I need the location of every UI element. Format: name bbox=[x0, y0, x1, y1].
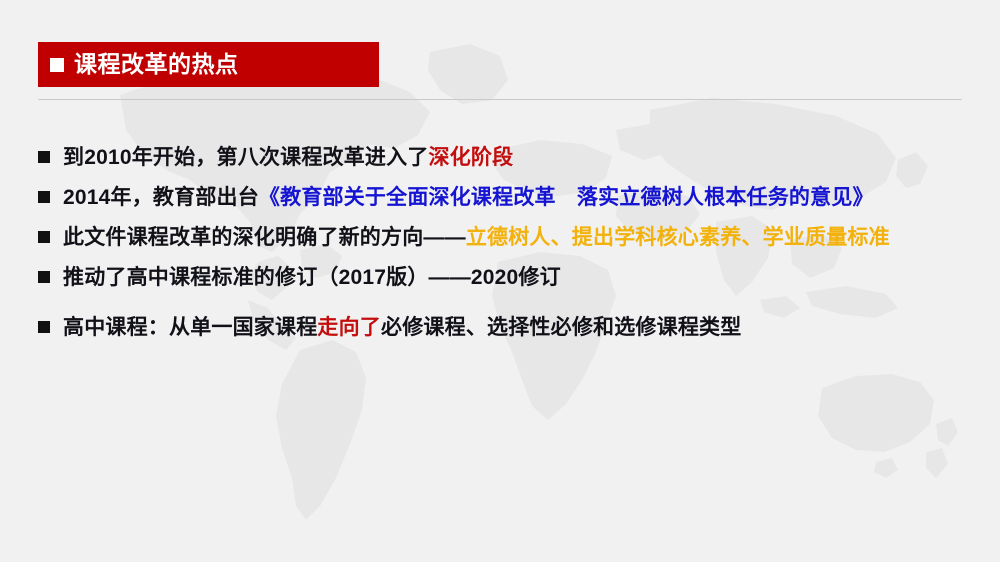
list-item-text: 到2010年开始，第八次课程改革进入了深化阶段 bbox=[63, 141, 513, 174]
header-divider bbox=[38, 99, 962, 100]
square-bullet-icon bbox=[38, 271, 50, 283]
page-title: 课程改革的热点 bbox=[74, 53, 239, 76]
text-segment-highlight: 走向了 bbox=[317, 316, 381, 339]
square-bullet-icon bbox=[38, 151, 50, 163]
list-item-text: 2014年，教育部出台《教育部关于全面深化课程改革 落实立德树人根本任务的意见》 bbox=[63, 181, 874, 214]
list-item: 高中课程：从单一国家课程走向了必修课程、选择性必修和选修课程类型 bbox=[38, 311, 983, 344]
list-item: 到2010年开始，第八次课程改革进入了深化阶段 bbox=[38, 141, 983, 174]
square-bullet-icon bbox=[38, 191, 50, 203]
bullet-list: 到2010年开始，第八次课程改革进入了深化阶段 2014年，教育部出台《教育部关… bbox=[38, 141, 983, 351]
text-segment: 到2010年开始，第八次课程改革进入了 bbox=[63, 146, 429, 169]
text-segment: 必修课程、选择性必修和选修课程类型 bbox=[381, 316, 741, 339]
list-item: 此文件课程改革的深化明确了新的方向——立德树人、提出学科核心素养、学业质量标准 bbox=[38, 221, 983, 254]
list-item-text: 推动了高中课程标准的修订（2017版）——2020修订 bbox=[63, 261, 561, 294]
text-segment: 此文件课程改革的深化明确了新的方向—— bbox=[63, 226, 466, 249]
list-item-text: 此文件课程改革的深化明确了新的方向——立德树人、提出学科核心素养、学业质量标准 bbox=[63, 221, 890, 254]
presentation-slide: 课程改革的热点 到2010年开始，第八次课程改革进入了深化阶段 2014年，教育… bbox=[0, 0, 1000, 562]
text-segment-document-title: 《教育部关于全面深化课程改革 落实立德树人根本任务的意见》 bbox=[259, 186, 874, 209]
square-bullet-icon bbox=[38, 321, 50, 333]
text-segment-highlight: 立德树人、提出学科核心素养、学业质量标准 bbox=[466, 226, 890, 249]
square-bullet-icon bbox=[50, 58, 64, 72]
square-bullet-icon bbox=[38, 231, 50, 243]
text-segment: 2014年，教育部出台 bbox=[63, 186, 259, 209]
text-segment-highlight: 深化阶段 bbox=[429, 146, 514, 169]
text-segment: 高中课程：从单一国家课程 bbox=[63, 316, 317, 339]
text-segment: 推动了高中课程标准的修订（2017版）——2020修订 bbox=[63, 266, 561, 289]
list-item: 推动了高中课程标准的修订（2017版）——2020修订 bbox=[38, 261, 983, 294]
list-item: 2014年，教育部出台《教育部关于全面深化课程改革 落实立德树人根本任务的意见》 bbox=[38, 181, 983, 214]
slide-title-banner: 课程改革的热点 bbox=[38, 42, 379, 87]
list-item-text: 高中课程：从单一国家课程走向了必修课程、选择性必修和选修课程类型 bbox=[63, 311, 741, 344]
